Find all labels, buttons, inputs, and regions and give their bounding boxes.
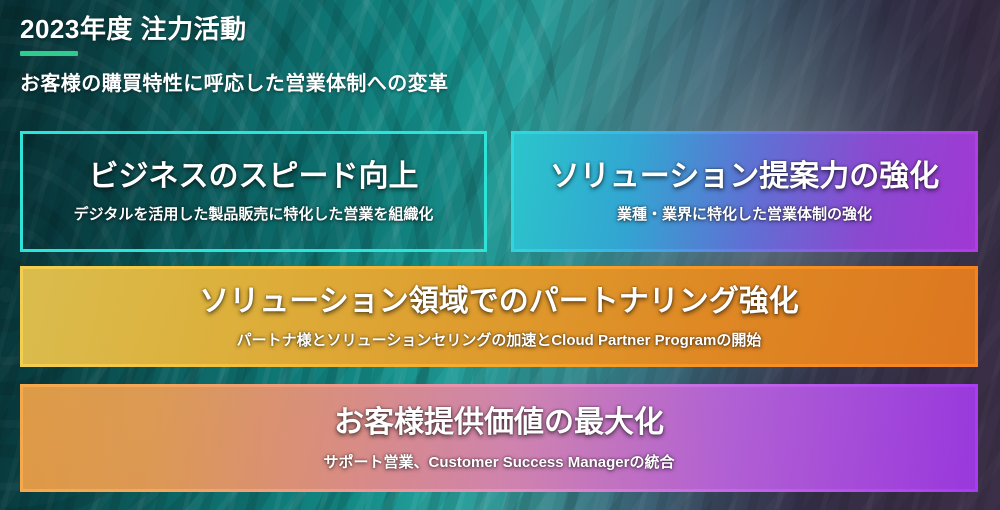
slide-header: 2023年度 注力活動 お客様の購買特性に呼応した営業体制への変革 (20, 14, 720, 96)
slide-canvas: 2023年度 注力活動 お客様の購買特性に呼応した営業体制への変革 ビジネスのス… (0, 0, 1000, 510)
card-subtitle: 業種・業界に特化した営業体制の強化 (617, 203, 872, 224)
page-subtitle: お客様の購買特性に呼応した営業体制への変革 (20, 67, 720, 96)
initiative-card-speed: ビジネスのスピード向上 デジタルを活用した製品販売に特化した営業を組織化 (20, 131, 487, 252)
card-subtitle: サポート営業、Customer Success Managerの統合 (324, 451, 675, 472)
card-title: ソリューション提案力の強化 (550, 159, 939, 195)
initiative-card-solution-proposal: ソリューション提案力の強化 業種・業界に特化した営業体制の強化 (511, 131, 978, 252)
card-subtitle: デジタルを活用した製品販売に特化した営業を組織化 (74, 203, 434, 224)
card-title: お客様提供価値の最大化 (334, 405, 664, 441)
initiative-card-customer-value: お客様提供価値の最大化 サポート営業、Customer Success Mana… (20, 384, 978, 492)
page-title: 2023年度 注力活動 (20, 14, 720, 45)
card-title: ビジネスのスピード向上 (89, 159, 419, 195)
title-accent-bar (20, 51, 78, 56)
card-title: ソリューション領域でのパートナリング強化 (199, 284, 798, 320)
card-subtitle: パートナ様とソリューションセリングの加速とCloud Partner Progr… (237, 329, 762, 350)
initiative-card-partnering: ソリューション領域でのパートナリング強化 パートナ様とソリューションセリングの加… (20, 266, 978, 367)
